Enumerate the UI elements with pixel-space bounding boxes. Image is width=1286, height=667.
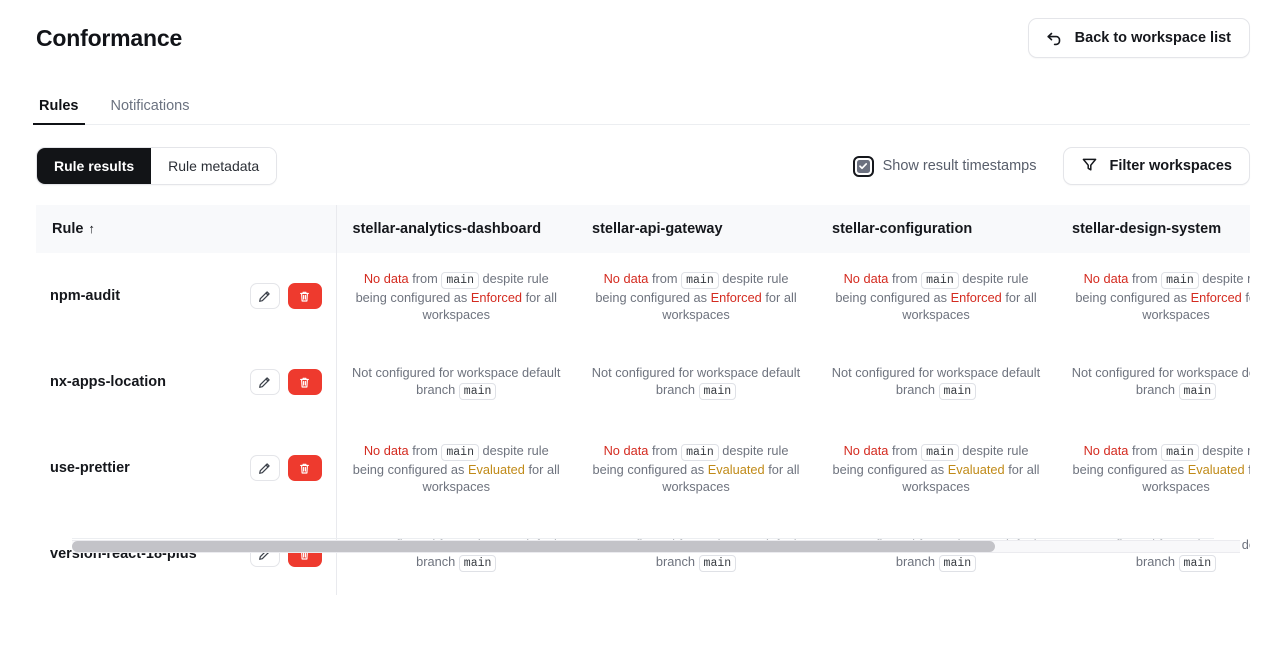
rule-result-cell: No data from main despite rule being con… [336,425,576,511]
branch-badge: main [681,272,719,289]
toolbar: Rule results Rule metadata Show result t… [0,147,1286,185]
rule-cell: npm-audit [36,253,336,339]
tab-list: Rules Notifications [36,98,1250,125]
filter-funnel-icon [1081,156,1098,177]
delete-trash-icon [298,376,311,389]
rule-cell: version-react-18-plus [36,511,336,595]
rule-actions [250,455,322,481]
rule-result-cell: No data from main despite rule being con… [816,425,1056,511]
status-no-data: No data [844,271,889,286]
rule-configuration-state: Evaluated [1188,462,1245,477]
branch-badge: main [921,444,959,461]
checkbox-label: Show result timestamps [883,158,1037,174]
rule-result-cell: Not configured for workspace default bra… [336,339,576,425]
rule-configuration-state: Evaluated [708,462,765,477]
edit-pencil-icon [258,290,271,303]
conformance-table-region: Rule↑ stellar-analytics-dashboardstellar… [36,205,1250,595]
delete-trash-icon [298,462,311,475]
branch-badge: main [1161,272,1199,289]
column-header-workspace[interactable]: stellar-api-gateway [576,205,816,253]
branch-badge: main [441,272,479,289]
rule-column-label: Rule [52,221,83,237]
column-header-workspace[interactable]: stellar-analytics-dashboard [336,205,576,253]
not-configured-text: Not configured for workspace default bra… [1072,365,1250,397]
checkbox-focus-ring [853,156,874,177]
rule-result-cell: No data from main despite rule being con… [576,253,816,339]
rule-configuration-state: Enforced [471,290,522,305]
page-title: Conformance [36,25,182,52]
branch-badge: main [921,272,959,289]
delete-rule-button[interactable] [288,455,322,481]
not-configured-text: Not configured for workspace default bra… [832,365,1040,397]
back-to-workspace-list-button[interactable]: Back to workspace list [1028,18,1250,58]
back-button-label: Back to workspace list [1075,30,1231,46]
rule-result-cell: Not configured for workspace default bra… [816,339,1056,425]
edit-rule-button[interactable] [250,455,280,481]
status-no-data: No data [844,443,889,458]
branch-badge: main [459,383,497,400]
table-row: use-prettierNo data from main despite ru… [36,425,1250,511]
rule-cell: nx-apps-location [36,339,336,425]
branch-badge: main [1161,444,1199,461]
rule-result-cell: Not configured for workspace default bra… [816,511,1056,595]
conformance-table: Rule↑ stellar-analytics-dashboardstellar… [36,205,1250,595]
rule-result-cell: No data from main despite rule being con… [816,253,1056,339]
tab-notifications[interactable]: Notifications [108,98,193,124]
filter-workspaces-button[interactable]: Filter workspaces [1063,147,1251,185]
branch-badge: main [441,444,479,461]
horizontal-scrollbar-track[interactable] [72,540,1240,553]
column-header-rule[interactable]: Rule↑ [36,205,336,253]
status-no-data: No data [604,443,649,458]
rule-actions [250,369,322,395]
rule-cell: use-prettier [36,425,336,511]
delete-rule-button[interactable] [288,369,322,395]
sort-ascending-icon: ↑ [88,221,95,236]
table-row: version-react-18-plusNot configured for … [36,511,1250,595]
delete-rule-button[interactable] [288,283,322,309]
status-no-data: No data [1084,271,1129,286]
horizontal-scrollbar-thumb[interactable] [72,541,995,552]
branch-badge: main [699,383,737,400]
branch-badge: main [681,444,719,461]
segment-rule-results[interactable]: Rule results [37,148,151,184]
toolbar-right-group: Show result timestamps Filter workspaces [853,147,1250,185]
table-row: npm-auditNo data from main despite rule … [36,253,1250,339]
column-header-workspace[interactable]: stellar-design-system [1056,205,1250,253]
rule-result-cell: Not configured for workspace default bra… [576,511,816,595]
back-arrow-icon [1045,29,1063,47]
page-header: Conformance Back to workspace list [0,0,1286,76]
rule-result-cell: No data from main despite rule being con… [336,253,576,339]
rule-configuration-state: Evaluated [468,462,525,477]
branch-badge: main [939,555,977,572]
rule-configuration-state: Enforced [951,290,1002,305]
not-configured-text: Not configured for workspace default bra… [592,365,800,397]
edit-pencil-icon [258,376,271,389]
rule-name: npm-audit [50,288,120,304]
tabs-container: Rules Notifications [0,98,1286,125]
column-header-workspace[interactable]: stellar-configuration [816,205,1056,253]
rule-result-cell: No data from main despite rule being con… [1056,425,1250,511]
status-no-data: No data [1084,443,1129,458]
rule-result-cell: No data from main despite rule being con… [576,425,816,511]
table-header-row: Rule↑ stellar-analytics-dashboardstellar… [36,205,1250,253]
rule-result-cell: Not configured for workspace default bra… [1056,339,1250,425]
rule-result-cell: Not configured for workspace default bra… [576,339,816,425]
rule-result-cell: Not configured for workspace default bra… [1056,511,1250,595]
not-configured-text: Not configured for workspace default bra… [352,365,560,397]
table-horizontal-scroll-viewport[interactable]: Rule↑ stellar-analytics-dashboardstellar… [36,205,1250,595]
rule-configuration-state: Evaluated [948,462,1005,477]
status-no-data: No data [364,443,409,458]
edit-pencil-icon [258,462,271,475]
show-result-timestamps-checkbox[interactable]: Show result timestamps [853,156,1037,177]
status-no-data: No data [364,271,409,286]
edit-rule-button[interactable] [250,283,280,309]
checkbox-checked-icon [857,160,870,173]
branch-badge: main [699,555,737,572]
branch-badge: main [939,383,977,400]
rule-actions [250,283,322,309]
rule-result-cell: Not configured for workspace default bra… [336,511,576,595]
rule-configuration-state: Enforced [711,290,762,305]
delete-trash-icon [298,290,311,303]
branch-badge: main [459,555,497,572]
status-no-data: No data [604,271,649,286]
table-bottom-divider [72,538,1214,539]
rule-name: use-prettier [50,460,130,476]
rule-name: nx-apps-location [50,374,166,390]
view-mode-segmented-control: Rule results Rule metadata [36,147,277,185]
branch-badge: main [1179,555,1217,572]
branch-badge: main [1179,383,1217,400]
edit-rule-button[interactable] [250,369,280,395]
rule-configuration-state: Enforced [1191,290,1242,305]
tab-rules[interactable]: Rules [36,98,82,124]
segment-rule-metadata[interactable]: Rule metadata [151,148,276,184]
table-row: nx-apps-locationNot configured for works… [36,339,1250,425]
filter-button-label: Filter workspaces [1110,158,1233,174]
rule-result-cell: No data from main despite rule being con… [1056,253,1250,339]
table-head: Rule↑ stellar-analytics-dashboardstellar… [36,205,1250,253]
